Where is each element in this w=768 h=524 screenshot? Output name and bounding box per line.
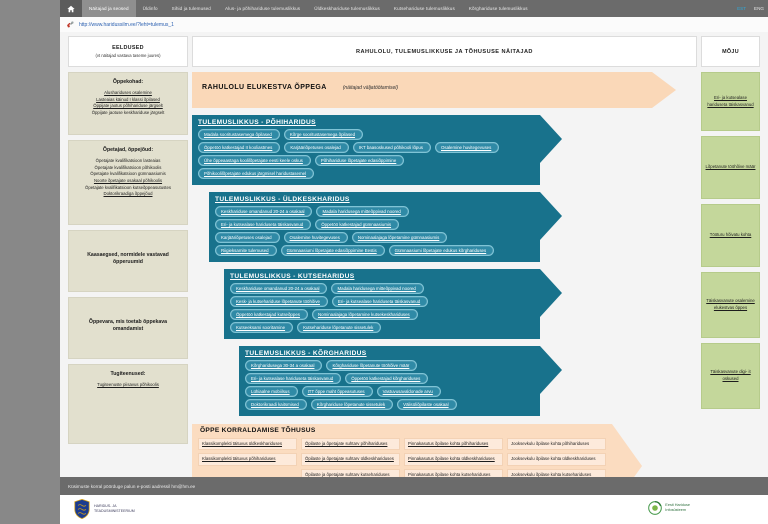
indicator-pill[interactable]: Madala haridusega mitteõppivad noored xyxy=(331,283,423,294)
pill-row: Põhikoolilõpetajate edukus järgmisel har… xyxy=(198,168,534,179)
indicator-pill[interactable]: Õppetöö katkestajad gümnaasiumis xyxy=(315,219,399,230)
efficiency-link[interactable]: Klassikomplekti täituvus põhihariduses xyxy=(202,456,293,462)
indicator-pill[interactable]: Riigieksamite tulemused xyxy=(215,245,277,256)
link-alushariduses-osalemine[interactable]: Alushariduses osalemine xyxy=(73,90,183,97)
eeldused-subtitle: (vt näitajad vastava taseme juures) xyxy=(96,53,161,58)
indicator-pill[interactable]: Nominaalajaga lõpetamine kutsekeskharidu… xyxy=(312,309,418,320)
pill-row: Õppetöö katkestajad kutseõppes Nominaala… xyxy=(230,309,534,320)
sidebar-box-title: Kaasaegsed, normidele vastavad õpperuumi… xyxy=(73,252,183,266)
left-column: EELDUSED (vt näitajad vastava taseme juu… xyxy=(68,36,188,444)
right-header-card: MÕJU xyxy=(701,36,760,67)
indicator-pill[interactable]: Eri- ja kutsealase hariduseta täiskasvan… xyxy=(215,219,311,230)
efficiency-cell[interactable]: Pinnakasutus õpilase kohta põhihariduses xyxy=(404,438,503,450)
link-tugiteenuste-piisavus[interactable]: Tugiteenuste piisavus põhikoolis xyxy=(73,382,183,389)
impact-link[interactable]: Tööturu hõivatu kohta xyxy=(710,232,752,239)
efficiency-cell[interactable]: Klassikomplekti täituvus üldkeskhariduse… xyxy=(198,438,297,450)
indicator-pill[interactable]: Lühiaalne mobiilsus xyxy=(245,386,298,397)
partner-line-2: Infosüsteem xyxy=(665,508,690,513)
section-arrow-tip xyxy=(540,192,562,240)
indicator-pill[interactable]: Osalemine huvitegevuses xyxy=(435,142,499,153)
indicator-pill[interactable]: Madala haridusega mitteõppivad noored xyxy=(316,206,408,217)
indicator-pill[interactable]: Põhikoolilõpetajate edukus järgmisel har… xyxy=(198,168,314,179)
impact-box-1[interactable]: Eri- ja kutsealase hariduseta täiskasvan… xyxy=(701,72,760,131)
pill-row: Kesk- ja kutsehariduse lõpetanute tööhõi… xyxy=(230,296,534,307)
page-root: Näitajad ja seosed Üldinfo Sihid ja tule… xyxy=(0,0,768,524)
text-kvalifikatsioon-lasteaias: Õpetajate kvalifikatsioon lasteaias xyxy=(73,158,183,165)
efficiency-cell[interactable]: Klassikomplekti täituvus põhihariduses xyxy=(198,453,297,465)
efficiency-cell: Jooksevkulu õpilase kohta põhihariduses xyxy=(507,438,606,450)
sidebar-box-oppekohad: Õppekohad: Alushariduses osalemine Laste… xyxy=(68,72,188,135)
left-gutter xyxy=(0,0,60,524)
footer-logo-zone: HARIDUS- JA TEADUSMINISTEERIUM Eesti Har… xyxy=(60,495,768,524)
impact-box-3[interactable]: Tööturu hõivatu kohta xyxy=(701,204,760,267)
sidebar-box-tugiteenused: Tugiteenused: Tugiteenuste piisavus põhi… xyxy=(68,364,188,444)
banner-rahulolu-elukestva-oppega: RAHULOLU ELUKESTVA ÕPPEGA (näitajad välj… xyxy=(192,72,697,108)
pill-row: Õppetöö katkestajad II kooliastmes Karjä… xyxy=(198,142,534,153)
efficiency-link[interactable]: Pinnakasutus õpilase kohta põhihariduses xyxy=(408,441,499,447)
nav-item-alus-ja-pohihariduse[interactable]: Alus- ja põhihariduse tulemuslikkus xyxy=(218,0,307,17)
indicator-pill[interactable]: Õppetöö katkestajad kõrghariduses xyxy=(345,373,428,384)
link-noorte-opetajate-osakaal[interactable]: Noorte õpetajate osakaal põhikoolis xyxy=(73,178,183,185)
pill-row: Riigieksamite tulemused Gümnaasiumi lõpe… xyxy=(215,245,534,256)
section-content: TULEMUSLIKKUS - KÕRGHARIDUS Kõrghariduse… xyxy=(239,346,540,416)
nav-label: Kutsehariduse tulemuslikkus xyxy=(394,6,455,11)
nav-label: Üldinfo xyxy=(143,6,158,11)
ehis-circle-icon xyxy=(648,501,662,515)
indicator-pill[interactable]: ITT õppe maht õppeasutuses xyxy=(302,386,373,397)
banner-arrow-tip xyxy=(652,72,676,108)
pill-row: Doktorikraadi kaitsmised Kõrghariduse lõ… xyxy=(245,399,534,410)
nav-label: Näitajad ja seosed xyxy=(89,6,129,11)
footer-contact-text: Küsimuste korral pöörduge palun e-posti … xyxy=(68,484,195,489)
estonia-crest-icon xyxy=(74,499,90,519)
indicator-pill[interactable]: IKT baasoskused põhikooli lõpus xyxy=(353,142,431,153)
indicator-pill[interactable]: Kesk- ja kutsehariduse lõpetanute tööhõi… xyxy=(230,296,328,307)
section-korgharidus: TULEMUSLIKKUS - KÕRGHARIDUS Kõrghariduse… xyxy=(239,346,697,416)
efficiency-text: Jooksevkulu õpilase kohta põhihariduses xyxy=(511,441,602,447)
nav-item-korghariduse[interactable]: Kõrghariduse tulemuslikkus xyxy=(462,0,535,17)
section-title: TULEMUSLIKKUS - ÜLDKESKHARIDUS xyxy=(215,196,350,203)
indicator-pill[interactable]: Vastuvusavaldonade arvu xyxy=(377,386,441,397)
lang-switch-est[interactable]: EST xyxy=(733,6,750,11)
efficiency-cell[interactable]: Õpilaste ja õpetajate suhtarv üldkeskhar… xyxy=(301,453,400,465)
indicator-pill[interactable]: Kutsehariduse lõpetanute sissetulek xyxy=(297,322,381,333)
efficiency-text: Jooksevkulu õpilase kohta üldkeskharidus… xyxy=(511,456,602,462)
nav-label: Kõrghariduse tulemuslikkus xyxy=(469,6,528,11)
indicator-pill[interactable]: Õppetöö katkestajad II kooliastmes xyxy=(198,142,280,153)
indicator-pill[interactable]: Ühe õppeaastaga koolilõpetajate eesti ke… xyxy=(198,155,311,166)
impact-link[interactable]: Eri- ja kutsealase hariduseta täiskasvan… xyxy=(705,95,756,109)
indicator-pill[interactable]: Kõrge sooritustasemega õpilased xyxy=(284,129,363,140)
section-kutseharidus: TULEMUSLIKKUS - KUTSEHARIDUS Keskharidus… xyxy=(224,269,697,339)
url-text: http://www.haridussilm.ee/?leht=tulemus_… xyxy=(79,22,174,28)
footer-contact-bar: Küsimuste korral pöörduge palun e-posti … xyxy=(60,477,768,495)
sidebar-box-title: Õppevara, mis toetab õppekava omandamist xyxy=(73,319,183,333)
middle-header-card: RAHULOLU, TULEMUSLIKKUSE JA TÕHUSUSE NÄI… xyxy=(192,36,697,67)
home-button[interactable] xyxy=(60,0,82,17)
home-icon xyxy=(67,5,75,13)
impact-box-5[interactable]: Täiskasvanute digi- it oskused xyxy=(701,343,760,409)
indicator-pill[interactable]: Gümnaasiumi lõpetajate edasiõppimine Ees… xyxy=(281,245,385,256)
text-kvalifikatsioon-gumnaasiumis: Õpetajate kvalifikatsioon gümnaasiumis xyxy=(73,171,183,178)
ministry-line-2: TEADUSMINISTEERIUM xyxy=(94,509,135,514)
ministry-logo-text: HARIDUS- JA TEADUSMINISTEERIUM xyxy=(94,504,135,514)
nav-item-uldinfo[interactable]: Üldinfo xyxy=(136,0,165,17)
section-title: TULEMUSLIKKUS - KÕRGHARIDUS xyxy=(245,350,367,357)
section-arrow-tip xyxy=(540,269,562,317)
section-pohiharidus: TULEMUSLIKKUS - PÕHIHARIDUS Madala soori… xyxy=(192,115,697,185)
eeldused-title: EELDUSED xyxy=(112,45,144,51)
text-kvalifikatsioon-pohikoolis: Õpetajate kvalifikatsioon põhikoolis xyxy=(73,165,183,172)
right-column: MÕJU Eri- ja kutsealase hariduseta täisk… xyxy=(701,36,760,409)
banner-text-group: RAHULOLU ELUKESTVA ÕPPEGA (näitajad välj… xyxy=(202,84,398,91)
impact-box-2[interactable]: Lõpetanute tööhõive määr xyxy=(701,136,760,199)
pill-row: Madala sooritustasemega õpilased Kõrge s… xyxy=(198,129,534,140)
sidebar-box-opperuumid: Kaasaegsed, normidele vastavad õpperuumi… xyxy=(68,230,188,292)
section-content: TULEMUSLIKKUS - PÕHIHARIDUS Madala soori… xyxy=(192,115,540,185)
nav-label: Alus- ja põhihariduse tulemuslikkus xyxy=(225,6,300,11)
indicator-pill[interactable]: Välisüliõpilaste osakaal xyxy=(397,399,456,410)
ehis-logo: Eesti Hariduse Infosüsteem xyxy=(648,501,690,515)
link-icon xyxy=(66,20,75,29)
nav-label: Üldkeskhariduse tulemuslikkus xyxy=(314,6,380,11)
impact-link[interactable]: Täiskasvanute digi- it oskused xyxy=(705,369,756,383)
link-doktorikraadiga-oppejoud[interactable]: Doktorikraadiga õppejõud xyxy=(73,191,183,198)
indicator-pill[interactable]: Doktorikraadi kaitsmised xyxy=(245,399,307,410)
text-kvalifikatsioon-kutseoppeasutustes: Õpetajate kvalifikatsioon kutseõppeasutu… xyxy=(73,185,183,192)
link-lasteaias-kainud[interactable]: Lasteaias käinud I klassi õpilased xyxy=(73,97,183,104)
section-uldkeskharidus: TULEMUSLIKKUS - ÜLDKESKHARIDUS Keskharid… xyxy=(209,192,697,262)
indicator-pill[interactable]: Õppetöö katkestajad kutseõppes xyxy=(230,309,308,320)
left-header-card: EELDUSED (vt näitajad vastava taseme juu… xyxy=(68,36,188,67)
ministry-logo: HARIDUS- JA TEADUSMINISTEERIUM xyxy=(74,499,135,519)
sidebar-box-title: Õpetajad, õppejõud: xyxy=(73,147,183,154)
indicator-pill[interactable]: Gümnaasiumi lõpetajate edukus kõrgharidu… xyxy=(389,245,495,256)
efficiency-title: ÕPPE KORRALDAMISE TÕHUSUS xyxy=(200,427,316,434)
efficiency-cell: Jooksevkulu õpilase kohta üldkeskharidus… xyxy=(507,453,606,465)
nav-item-sihid-ja-tulemused[interactable]: Sihid ja tulemused xyxy=(165,0,218,17)
pill-row: Kõrgharidusega 30-34 a osakaal Kõrgharid… xyxy=(245,360,534,371)
nav-item-uldkesk-hariduse[interactable]: Üldkeskhariduse tulemuslikkus xyxy=(307,0,387,17)
efficiency-link[interactable]: Pinnakasutus õpilase kohta üldkeskharidu… xyxy=(408,456,499,462)
top-navigation-bar: Näitajad ja seosed Üldinfo Sihid ja tule… xyxy=(60,0,768,17)
pill-row: Karjääriõpetuses osalejad Osalemine huvi… xyxy=(215,232,534,243)
sidebar-box-title: Tugiteenused: xyxy=(73,371,183,378)
section-arrow-tip xyxy=(540,346,562,394)
text-oppijate-jaotuse-keskhariduse: Õppijate jaotuse keskhariduse järgselt xyxy=(73,110,183,117)
efficiency-link[interactable]: Õpilaste ja õpetajate suhtarv üldkeskhar… xyxy=(305,456,396,462)
pill-row: Eri- ja kutsealase hariduseta täiskasvan… xyxy=(245,373,534,384)
nav-item-naitajad-ja-seosed[interactable]: Näitajad ja seosed xyxy=(82,0,136,17)
indicator-pill[interactable]: Kõrgharidusega 30-34 a osakaal xyxy=(245,360,322,371)
indicator-pill[interactable]: Põhihariduse lõpetajate edasiõppimine xyxy=(315,155,404,166)
pill-row: Lühiaalne mobiilsus ITT õppe maht õppeas… xyxy=(245,386,534,397)
section-content: TULEMUSLIKKUS - KUTSEHARIDUS Keskharidus… xyxy=(224,269,540,339)
main-title: RAHULOLU, TULEMUSLIKKUSE JA TÕHUSUSE NÄI… xyxy=(356,49,533,55)
pill-row: Eri- ja kutsealase hariduseta täiskasvan… xyxy=(215,219,534,230)
indicator-pill[interactable]: Eri- ja kutsealase hariduseta täiskasvan… xyxy=(245,373,341,384)
lang-switch-eng[interactable]: ENG xyxy=(750,6,768,11)
section-title: TULEMUSLIKKUS - KUTSEHARIDUS xyxy=(230,273,354,280)
ehis-logo-text: Eesti Hariduse Infosüsteem xyxy=(665,503,690,513)
indicator-pill[interactable]: Karjääriõpetuses osalejad xyxy=(215,232,280,243)
pill-row: Keskhariduse omandanud 20-24 a osakaal M… xyxy=(215,206,534,217)
efficiency-link[interactable]: Õpilaste ja õpetajate suhtarv põhiharidu… xyxy=(305,441,396,447)
banner-title: RAHULOLU ELUKESTVA ÕPPEGA xyxy=(202,84,327,91)
content-frame: EELDUSED (vt näitajad vastava taseme juu… xyxy=(60,32,768,477)
url-bar[interactable]: http://www.haridussilm.ee/?leht=tulemus_… xyxy=(60,17,768,33)
nav-item-kutsehariduse[interactable]: Kutsehariduse tulemuslikkus xyxy=(387,0,462,17)
indicator-pill[interactable]: Madala sooritustasemega õpilased xyxy=(198,129,280,140)
sidebar-box-title: Õppekohad: xyxy=(73,79,183,86)
indicator-pill[interactable]: Keskhariduse omandanud 20-24 a osakaal xyxy=(230,283,327,294)
moju-title: MÕJU xyxy=(722,49,739,55)
section-arrow-tip xyxy=(540,115,562,163)
efficiency-link[interactable]: Klassikomplekti täituvus üldkeskhariduse… xyxy=(202,441,293,447)
indicator-pill[interactable]: Kutseeksami sooritamine xyxy=(230,322,293,333)
nav-label: Sihid ja tulemused xyxy=(172,6,211,11)
sidebar-box-opetajad: Õpetajad, õppejõud: Õpetajate kvalifikat… xyxy=(68,140,188,225)
efficiency-cell[interactable]: Õpilaste ja õpetajate suhtarv põhiharidu… xyxy=(301,438,400,450)
indicator-pill[interactable]: Keskhariduse omandanud 20-24 a osakaal xyxy=(215,206,312,217)
banner-note: (näitajad väljatöötamisel) xyxy=(343,85,398,91)
impact-link[interactable]: Täiskasvanute osalemine elukestvas õppes xyxy=(705,298,756,312)
sidebar-box-oppevara: Õppevara, mis toetab õppekava omandamist xyxy=(68,297,188,359)
impact-link[interactable]: Lõpetanute tööhõive määr xyxy=(706,164,756,171)
impact-box-4[interactable]: Täiskasvanute osalemine elukestvas õppes xyxy=(701,272,760,338)
link-oppijate-jaotus-pohihariduse[interactable]: Õppijate jaotus põhihariduse järgselt xyxy=(73,103,183,110)
pill-row: Kutseeksami sooritamine Kutsehariduse lõ… xyxy=(230,322,534,333)
indicator-pill[interactable]: Karjääriõpetuses osalejad xyxy=(284,142,349,153)
indicator-pill[interactable]: Nominaalajaga lõpetamine gümnaasiumis xyxy=(352,232,448,243)
middle-column: RAHULOLU, TULEMUSLIKKUSE JA TÕHUSUSE NÄI… xyxy=(192,36,697,508)
section-title: TULEMUSLIKKUS - PÕHIHARIDUS xyxy=(198,119,316,126)
pill-row: Keskhariduse omandanud 20-24 a osakaal M… xyxy=(230,283,534,294)
pill-row: Ühe õppeaastaga koolilõpetajate eesti ke… xyxy=(198,155,534,166)
indicator-pill[interactable]: Eri- ja kutsealase hariduseta täiskasvan… xyxy=(332,296,428,307)
indicator-pill[interactable]: Osalemine huvitegevuses xyxy=(284,232,348,243)
efficiency-cell[interactable]: Pinnakasutus õpilase kohta üldkeskharidu… xyxy=(404,453,503,465)
section-content: TULEMUSLIKKUS - ÜLDKESKHARIDUS Keskharid… xyxy=(209,192,540,262)
indicator-pill[interactable]: Kõrghariduse lõpetanute sissetulek xyxy=(311,399,393,410)
indicator-pill[interactable]: Kõrghariduse lõpetanute tööhõive määr xyxy=(326,360,417,371)
